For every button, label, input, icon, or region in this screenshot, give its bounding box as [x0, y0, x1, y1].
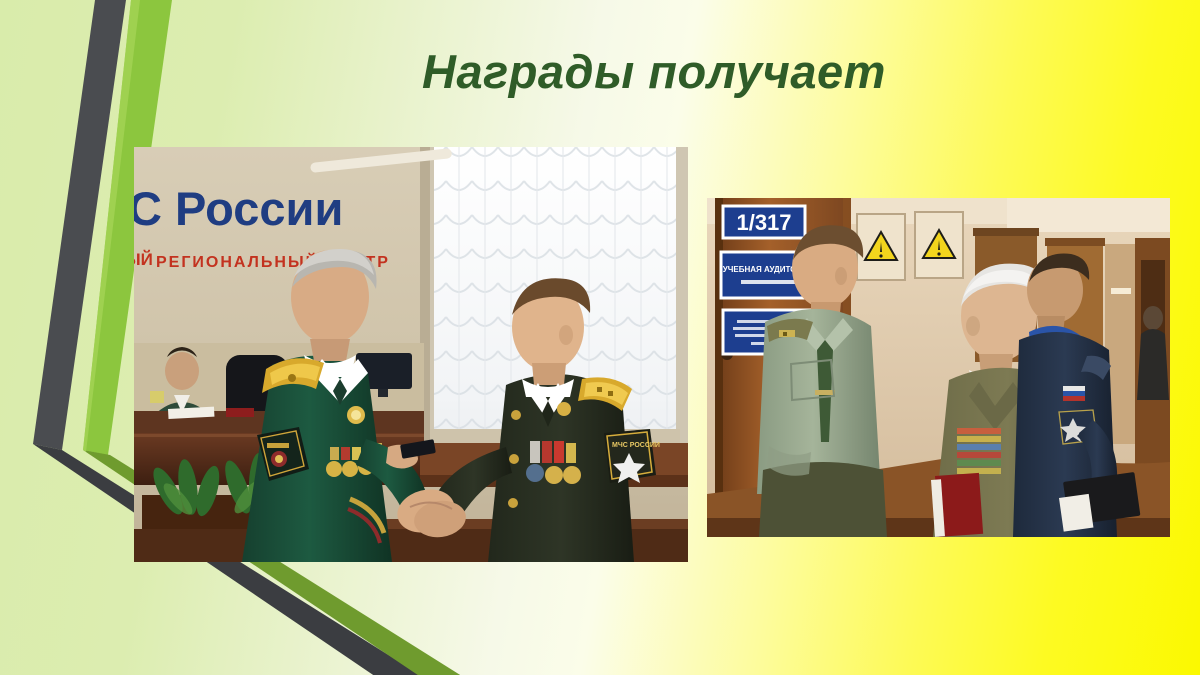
slide-canvas: Награды получает	[0, 0, 1200, 675]
wall-sign-sub-left: ЫЙ	[134, 250, 153, 269]
corridor-veteran-photo: 1/317 УЧЕБНАЯ АУДИТОРИЯ	[707, 198, 1170, 537]
page-title: Награды получает	[54, 44, 1200, 99]
warning-sign-right	[915, 212, 963, 278]
emercom-patch-label: МЧС РОССИИ	[612, 442, 660, 449]
door-sign-number: 1/317	[723, 206, 805, 238]
wall-sign-main-text: С России	[134, 182, 343, 235]
door-sign-number-text: 1/317	[736, 210, 791, 235]
warning-sign-left	[857, 214, 905, 280]
award-ceremony-photo-artwork: С России ЫЙ РЕГИОНАЛЬНЫЙ ЦЕНТР	[134, 147, 688, 562]
corridor-veteran-photo-artwork: 1/317 УЧЕБНАЯ АУДИТОРИЯ	[707, 198, 1170, 537]
award-ceremony-photo: С России ЫЙ РЕГИОНАЛЬНЫЙ ЦЕНТР	[134, 147, 688, 562]
